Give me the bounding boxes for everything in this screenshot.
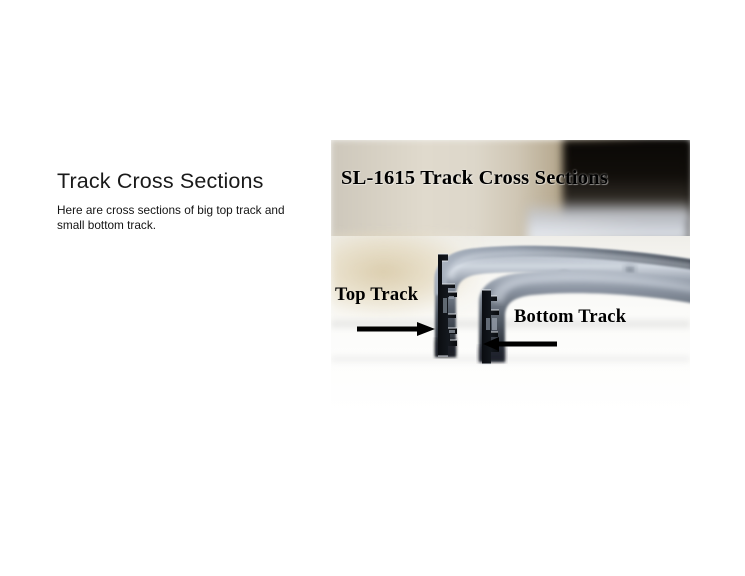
- photo-label-bottom-track: Bottom Track: [514, 307, 626, 328]
- body-text: Here are cross sections of big top track…: [57, 203, 285, 232]
- photo-label-top-track: Top Track: [335, 285, 418, 306]
- arrow-left-icon: [483, 336, 557, 352]
- track-cross-section-photo: SL-1615 Track Cross Sections Top Track B…: [331, 140, 690, 413]
- text-column: Track Cross Sections Here are cross sect…: [57, 168, 302, 232]
- arrow-right-icon: [357, 321, 435, 337]
- photo-overlay-title: SL-1615 Track Cross Sections: [341, 167, 608, 190]
- page-title: Track Cross Sections: [57, 168, 302, 194]
- top-track-cross-section-profile: [435, 252, 461, 360]
- slide-canvas: Track Cross Sections Here are cross sect…: [0, 0, 745, 576]
- bottom-track-cross-section-profile: [479, 288, 503, 368]
